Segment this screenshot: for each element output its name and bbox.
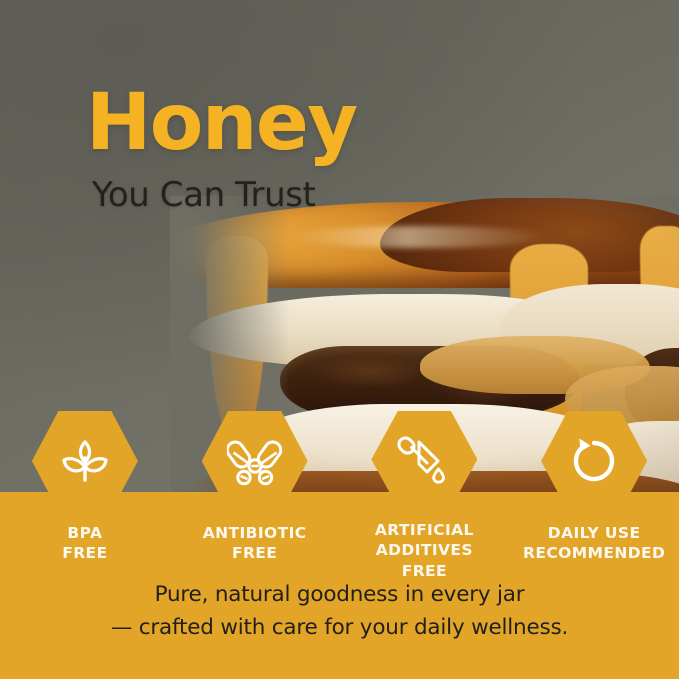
badge-label: DAILY USE RECOMMENDED [523, 523, 665, 564]
badge-label: ARTIFICIAL ADDITIVES FREE [375, 520, 474, 581]
tagline: Pure, natural goodness in every jar — cr… [0, 578, 679, 645]
page-title: Honey [86, 84, 357, 162]
headline-block: Honey You Can Trust [86, 84, 357, 212]
hexagon-shape [541, 411, 647, 511]
badge-antibiotic-free: ANTIBIOTIC FREE [170, 411, 340, 581]
pills-capsules-icon [227, 435, 283, 487]
hexagon-shape [371, 411, 477, 508]
page-subtitle: You Can Trust [92, 178, 357, 212]
refresh-circular-arrow-icon [568, 435, 620, 487]
hexagon-shape [32, 411, 138, 511]
honey-product-poster: Honey You Can Trust BPA FREE [0, 0, 679, 679]
hexagon-shape [202, 411, 308, 511]
badge-bpa-free: BPA FREE [0, 411, 170, 581]
badge-label: BPA FREE [62, 523, 107, 564]
badge-label: ANTIBIOTIC FREE [203, 523, 307, 564]
badge-daily-use-recommended: DAILY USE RECOMMENDED [509, 411, 679, 581]
dropper-pipette-icon [397, 433, 451, 485]
sprout-leaves-icon [58, 436, 112, 486]
badge-artificial-additives-free: ARTIFICIAL ADDITIVES FREE [340, 411, 510, 581]
feature-badge-row: BPA FREE [0, 411, 679, 581]
